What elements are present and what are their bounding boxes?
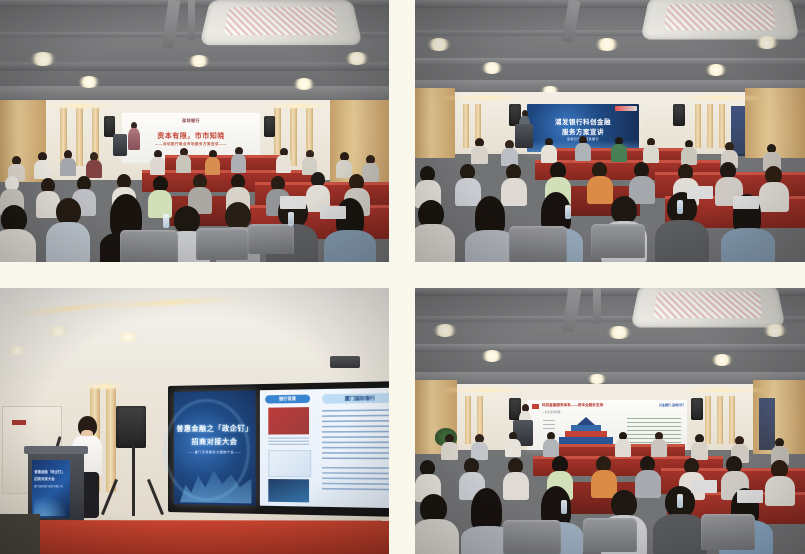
chair	[591, 224, 645, 258]
audience-member	[643, 138, 659, 162]
photo-bottom-left[interactable]: 普惠金融之「政企钉」 招商对接大会 ——厦门专项服务方案推介会—— 银行背景 厦…	[0, 288, 389, 554]
ceiling-light	[118, 332, 138, 342]
audience-member	[615, 432, 631, 456]
audience-member	[651, 432, 667, 456]
wall-light-strip	[44, 104, 114, 108]
led-wall-left-panel: 普惠金融之「政企钉」 招商对接大会 ——厦门专项服务方案推介会——	[174, 390, 256, 505]
lectern-text-1: 普惠金融「政企钉」	[34, 470, 67, 474]
wall-slat	[463, 104, 469, 148]
wall-light-strip	[82, 384, 128, 389]
chair	[120, 230, 178, 262]
speaker-tripod	[104, 446, 162, 516]
water-bottle	[677, 494, 683, 508]
audience-member	[60, 150, 76, 175]
wall-light-strip	[677, 388, 767, 392]
audience-member	[231, 147, 246, 172]
wall-slat	[290, 108, 297, 166]
ceiling-light	[763, 324, 787, 337]
wall-sign	[12, 420, 26, 425]
ceiling-beam	[415, 58, 805, 66]
audience-member	[34, 152, 51, 178]
presenter	[128, 122, 140, 150]
loudspeaker	[264, 116, 275, 137]
laptop	[320, 206, 346, 219]
slide-photo	[268, 479, 309, 502]
audience-member	[505, 432, 521, 456]
slide-subtitle: —企业生命周期—	[542, 410, 563, 414]
audience-member	[302, 150, 317, 174]
lectern-text-2: 招商对接大会	[34, 477, 67, 481]
slide-logo-mark	[532, 404, 539, 409]
ceiling-light	[8, 346, 26, 355]
audience-member	[611, 137, 627, 161]
stage-carpet	[0, 520, 389, 554]
ceiling-light	[595, 38, 619, 51]
audience-member	[176, 148, 191, 172]
swoosh-graphic	[164, 399, 249, 502]
ceiling-light	[607, 326, 631, 339]
audience-member	[471, 138, 488, 162]
ac-vent-icon	[640, 0, 799, 39]
audience-member	[691, 434, 708, 459]
chair	[248, 224, 294, 254]
ceiling-light	[587, 374, 607, 384]
slide-photo	[268, 450, 311, 477]
laptop	[733, 196, 759, 209]
audience-member	[543, 432, 559, 456]
photo-top-right[interactable]: 浦发银行科创金融 服务方案宣讲 深圳分行 · 浦发银行	[415, 0, 805, 262]
ceiling-light	[481, 62, 503, 74]
lectern-glow	[34, 496, 68, 516]
ceiling-light	[293, 78, 315, 90]
slide-axis-label	[543, 420, 555, 432]
audience-member	[541, 138, 557, 162]
lectern-branding-panel: 普惠金融「政企钉」 招商对接大会 厦门国际银行股份有限公司	[32, 460, 70, 518]
wall-light-strip	[441, 388, 531, 392]
ceiling-beam	[415, 344, 805, 352]
chair	[583, 518, 637, 552]
chair	[196, 228, 248, 260]
wall-light-strip	[262, 104, 334, 108]
slide-body-text	[322, 409, 389, 461]
loudspeaker	[691, 398, 703, 420]
audience-member	[150, 150, 165, 174]
audience-member	[86, 152, 102, 177]
laptop	[687, 186, 713, 199]
wall-slat	[717, 396, 723, 444]
ceiling-light	[755, 36, 779, 49]
scene-top-left: 深圳银行 资本有限，市市知晓 ——深圳银行联合市场服务方案宣讲——	[0, 0, 389, 262]
scene-top-right: 浦发银行科创金融 服务方案宣讲 深圳分行 · 浦发银行	[415, 0, 805, 262]
lectern-text-3: 厦门国际银行股份有限公司	[34, 485, 67, 488]
laptop	[691, 480, 717, 493]
wall-slat	[707, 104, 713, 148]
led-wall-right-panel: 银行背景 厦门国际银行	[260, 387, 389, 508]
ceiling-light	[481, 350, 503, 362]
ceiling-duct	[188, 0, 195, 40]
wall-light-strip	[441, 96, 531, 100]
slide-title-line-1: 浦发银行科创金融	[527, 116, 639, 126]
scene-bottom-left: 普惠金融之「政企钉」 招商对接大会 ——厦门专项服务方案推介会—— 银行背景 厦…	[0, 288, 389, 554]
ceiling-light	[188, 55, 210, 67]
panel-heading-1: 银行背景	[265, 395, 310, 404]
laptop	[737, 490, 763, 503]
ceiling-light	[48, 326, 68, 336]
chair	[701, 514, 755, 550]
slide-logo-text: 兴业银行·深圳分行	[659, 403, 684, 407]
panel-heading-2: 厦门国际银行	[322, 393, 389, 404]
audience-member	[276, 148, 291, 172]
audience-member	[681, 140, 697, 164]
water-bottle	[565, 205, 571, 219]
water-bottle	[561, 500, 567, 514]
ceiling-light	[711, 354, 733, 366]
audience-member	[441, 434, 458, 459]
slide-title-line-1: 资本有限，市市知晓	[122, 131, 260, 141]
ac-vent-icon	[199, 0, 362, 45]
floor-corner	[0, 514, 40, 554]
laptop	[280, 196, 306, 209]
audience-member	[501, 140, 518, 164]
slide-logo: 深圳银行	[122, 118, 260, 124]
slide-body-text	[322, 467, 389, 493]
photo-gallery: 深圳银行 资本有限，市市知晓 ——深圳银行联合市场服务方案宣讲——	[0, 0, 805, 554]
wall-light-strip	[673, 96, 763, 100]
slide-title-line-2: 服务方案宣讲	[527, 126, 639, 136]
audience-member	[471, 434, 488, 459]
ceiling-projector	[330, 356, 360, 368]
water-bottle	[163, 214, 169, 228]
photo-top-left[interactable]: 深圳银行 资本有限，市市知晓 ——深圳银行联合市场服务方案宣讲——	[0, 0, 389, 262]
water-bottle	[677, 200, 683, 214]
lectern	[113, 134, 127, 156]
audience-member	[575, 136, 591, 160]
ceiling-light	[433, 324, 457, 337]
chair	[509, 226, 567, 262]
led-wall-frame: 普惠金融之「政企钉」 招商对接大会 ——厦门专项服务方案推介会—— 银行背景 厦…	[168, 381, 389, 517]
slide-caption	[268, 437, 309, 445]
ceiling-light	[427, 38, 451, 51]
water-bottle	[288, 212, 294, 226]
audience-member	[415, 494, 459, 554]
slide-photo	[268, 407, 309, 434]
loudspeaker	[673, 104, 685, 126]
audience-member	[205, 150, 220, 174]
wall-slat	[76, 108, 83, 166]
audience-member	[46, 198, 90, 262]
ceiling-light	[705, 64, 727, 76]
ac-vent-icon	[630, 288, 785, 327]
ceiling-light	[78, 76, 100, 88]
scene-bottom-right: 科技金融服务体系——资本全链条支持 —企业生命周期— 兴业银行·深圳分行	[415, 288, 805, 554]
loudspeaker	[116, 406, 146, 448]
ceiling-light	[30, 52, 56, 66]
ceiling-duct	[593, 288, 601, 324]
audience-member	[0, 205, 36, 262]
screen-logo-badge	[615, 106, 637, 111]
ceiling-light	[345, 52, 369, 65]
photo-bottom-right[interactable]: 科技金融服务体系——资本全链条支持 —企业生命周期— 兴业银行·深圳分行	[415, 288, 805, 554]
slide-title-line-1: 科技金融服务体系——资本全链条支持	[542, 403, 627, 408]
audience-member	[415, 200, 455, 262]
chair	[503, 520, 561, 554]
lectern-top	[24, 446, 88, 454]
